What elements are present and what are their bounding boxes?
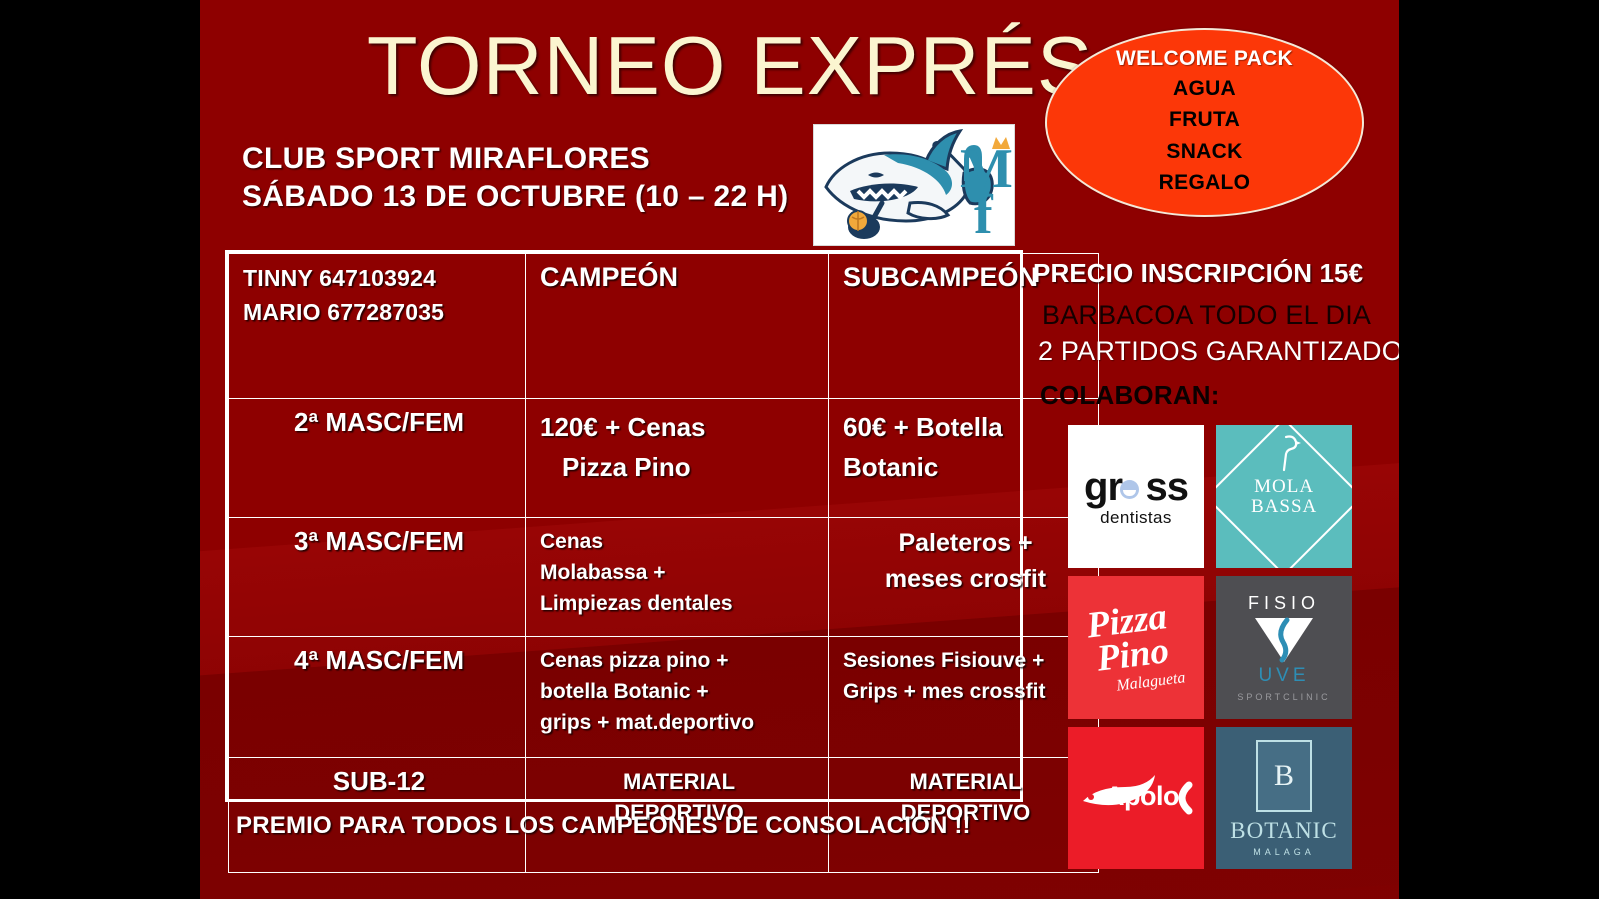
svg-text:f: f (974, 184, 994, 245)
fisio-line-2: UVE (1237, 666, 1330, 685)
prize-line: Grips + mes crossfit (843, 676, 1088, 707)
cell-prize-4a-campeon: Cenas pizza pino + botella Botanic + gri… (526, 637, 829, 758)
table-row-2a: 2ª MASC/FEM 120€ + Cenas Pizza Pino 60€ … (229, 399, 1099, 518)
prize-line: Botanic (843, 447, 1088, 487)
prize-line: Sesiones Fisiouve + (843, 645, 1088, 676)
apolo-mark: Apolo (1077, 771, 1195, 825)
prize-line: Cenas (540, 526, 818, 557)
cell-contacts: TINNY 647103924 MARIO 677287035 (229, 254, 526, 399)
prize-line: Molabassa + (540, 557, 818, 588)
cell-prize-3a-campeon: Cenas Molabassa + Limpiezas dentales (526, 518, 829, 637)
welcome-pack-item-regalo: REGALO (1159, 167, 1251, 198)
mola-bassa-diamond: MOLA BASSA (1216, 425, 1352, 568)
screenshot-stage: TORNEO EXPRÉS CLUB SPORT MIRAFLORES SÁBA… (0, 0, 1599, 899)
gross-wordmark: gross (1084, 467, 1188, 507)
page-title: TORNEO EXPRÉS (320, 22, 1140, 109)
welcome-pack-badge: WELCOME PACK AGUA FRUTA SNACK REGALO (1045, 28, 1364, 217)
footer-note: PREMIO PARA TODOS LOS CAMPEONES DE CONSO… (236, 812, 1026, 840)
poster-slide: TORNEO EXPRÉS CLUB SPORT MIRAFLORES SÁBA… (200, 0, 1399, 899)
apolo-wordmark: Apolo (1105, 781, 1179, 812)
prize-line: Pizza Pino (540, 447, 818, 487)
botanic-emblem: B (1256, 740, 1312, 812)
gross-word-part-b: ss (1145, 465, 1188, 509)
smile-icon (1120, 480, 1139, 499)
club-name: CLUB SPORT MIRAFLORES (242, 140, 892, 178)
welcome-pack-item-fruta: FRUTA (1169, 104, 1240, 135)
sponsor-logo-mola-bassa: MOLA BASSA (1216, 425, 1352, 568)
sponsor-logo-apolo: Apolo (1068, 727, 1204, 869)
price-label: PRECIO INSCRIPCIÓN 15€ (1033, 258, 1363, 289)
gross-subtitle: dentistas (1084, 509, 1188, 526)
prizes-table: TINNY 647103924 MARIO 677287035 CAMPEÓN … (225, 250, 1023, 802)
welcome-pack-item-agua: AGUA (1173, 73, 1236, 104)
contact-mario: MARIO 677287035 (243, 296, 515, 330)
prize-line: grips + mat.deportivo (540, 707, 818, 738)
event-date: SÁBADO 13 DE OCTUBRE (10 – 22 H) (242, 178, 892, 216)
table-row-4a: 4ª MASC/FEM Cenas pizza pino + botella B… (229, 637, 1099, 758)
sponsor-logo-botanic-malaga: B BOTANIC MALAGA (1216, 727, 1352, 869)
botanic-wordmark: BOTANIC (1230, 818, 1337, 844)
prize-line: MATERIAL (843, 766, 1088, 797)
club-info-block: CLUB SPORT MIRAFLORES SÁBADO 13 DE OCTUB… (242, 140, 892, 217)
cell-prize-4a-subcampeon: Sesiones Fisiouve + Grips + mes crossfit (829, 637, 1099, 758)
botanic-subtitle: MALAGA (1230, 847, 1337, 857)
mola-line-2: BASSA (1251, 497, 1317, 517)
fisio-line-1: FISIO (1237, 594, 1330, 612)
contact-tinny: TINNY 647103924 (243, 262, 515, 296)
club-logo-shark-icon: M f (813, 124, 1015, 246)
sponsors-grid: gross dentistas MOLA BASSA (1068, 425, 1354, 867)
column-header-campeon: CAMPEÓN (526, 254, 829, 399)
cell-category-4a: 4ª MASC/FEM (229, 637, 526, 758)
fisio-v-icon (1253, 616, 1315, 664)
prize-line: Paleteros + (843, 526, 1088, 562)
cell-prize-2a-subcampeon: 60€ + Botella Botanic (829, 399, 1099, 518)
welcome-pack-item-snack: SNACK (1166, 136, 1242, 167)
partidos-label: 2 PARTIDOS GARANTIZADOS (1038, 336, 1399, 367)
welcome-pack-heading: WELCOME PACK (1116, 47, 1293, 71)
mola-line-1: MOLA (1251, 477, 1317, 497)
botanic-monogram: B (1274, 759, 1294, 793)
prize-line: botella Botanic + (540, 676, 818, 707)
prize-line: 120€ + Cenas (540, 407, 818, 447)
sponsor-logo-gross-dentistas: gross dentistas (1068, 425, 1204, 568)
cell-prize-2a-campeon: 120€ + Cenas Pizza Pino (526, 399, 829, 518)
cell-category-2a: 2ª MASC/FEM (229, 399, 526, 518)
prize-line: 60€ + Botella (843, 407, 1088, 447)
prize-line: MATERIAL (540, 766, 818, 797)
prize-line: Cenas pizza pino + (540, 645, 818, 676)
barbacoa-label: BARBACOA TODO EL DIA (1042, 300, 1371, 331)
colaboran-label: COLABORAN: (1040, 380, 1220, 411)
sponsor-logo-fisio-uve: FISIO UVE SPORTCLINIC (1216, 576, 1352, 719)
prize-line: meses crosfit (843, 562, 1088, 598)
fisio-line-3: SPORTCLINIC (1237, 693, 1330, 702)
cell-category-3a: 3ª MASC/FEM (229, 518, 526, 637)
gross-word-part-a: gr (1084, 465, 1122, 509)
cell-prize-3a-subcampeon: Paleteros + meses crosfit (829, 518, 1099, 637)
sponsor-logo-pizza-pino: Pizza Pino Malagueta (1068, 576, 1204, 719)
prize-line: Limpiezas dentales (540, 588, 818, 619)
table-row-header: TINNY 647103924 MARIO 677287035 CAMPEÓN … (229, 254, 1099, 399)
table-row-3a: 3ª MASC/FEM Cenas Molabassa + Limpiezas … (229, 518, 1099, 637)
